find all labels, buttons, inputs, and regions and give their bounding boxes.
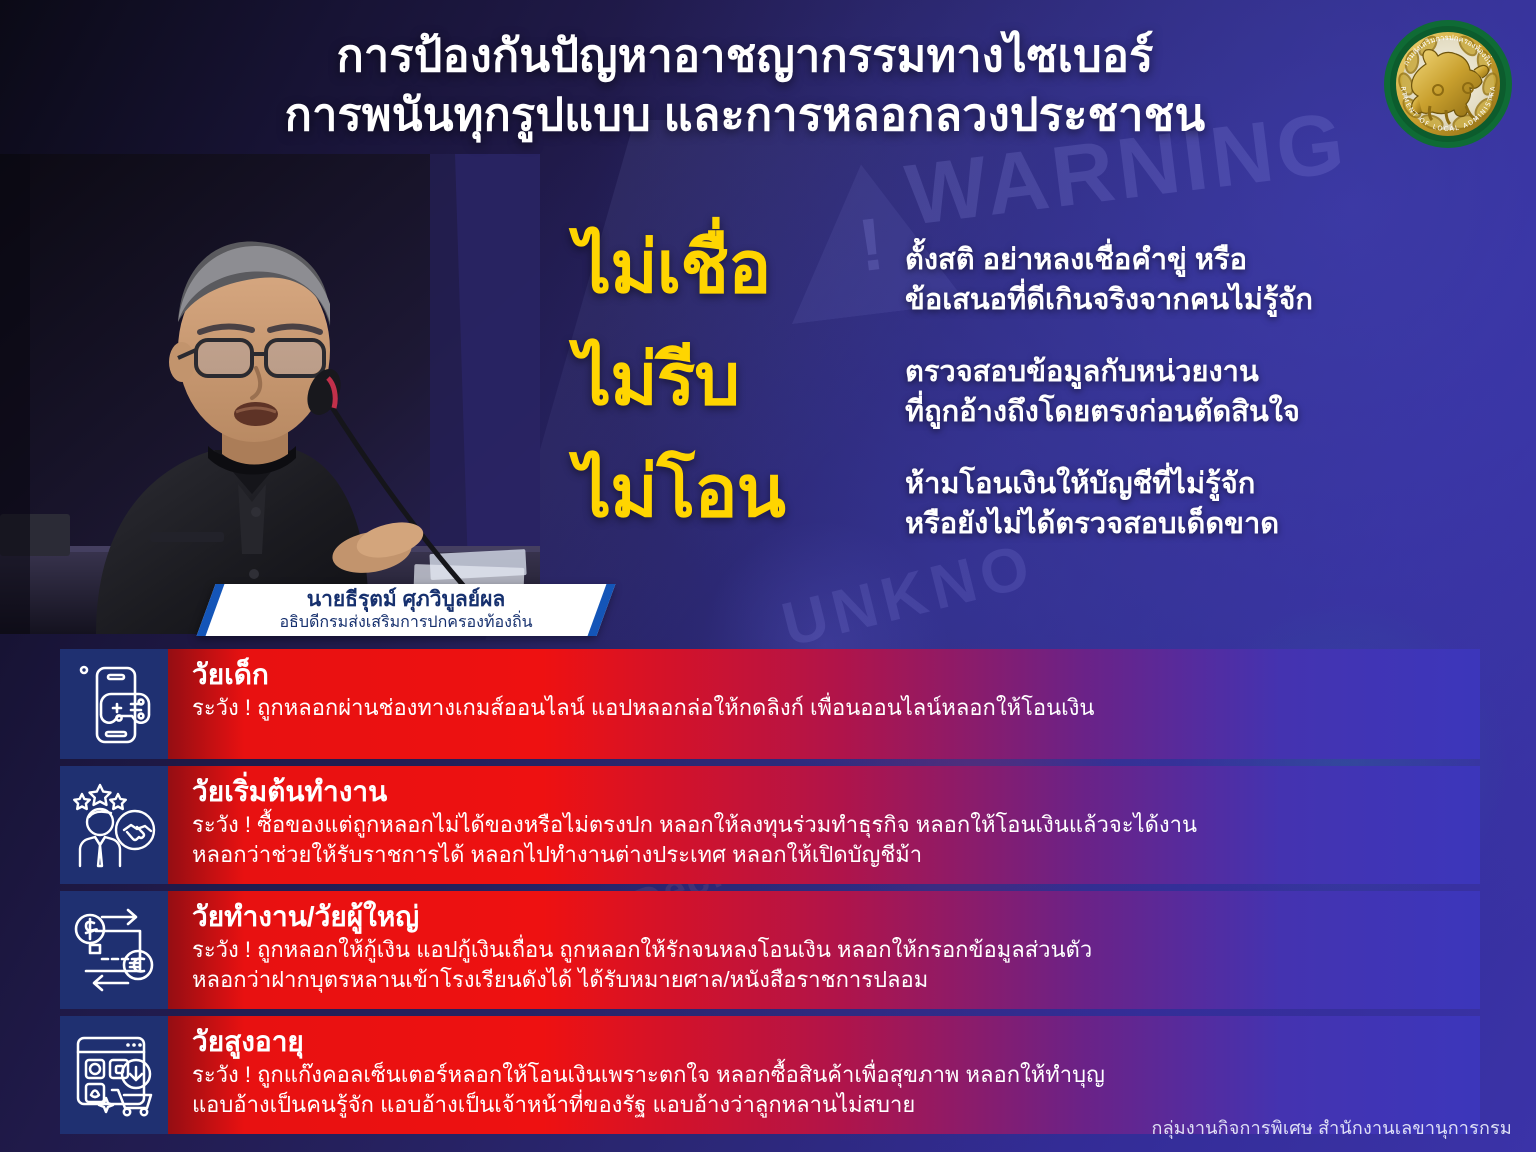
infographic-poster: WARNING UNKNO Decline Accept — [0, 0, 1536, 1152]
slogan-row: ไม่โอน ห้ามโอนเงินให้บัญชีที่ไม่รู้จัก ห… — [575, 446, 1475, 544]
page-title: การป้องกันปัญหาอาชญากรรมทางไซเบอร์ การพน… — [140, 26, 1350, 145]
age-group-line-2: หลอกว่าช่วยให้รับราชการได้ หลอกไปทำงานต่… — [192, 840, 1464, 869]
slogan-desc-line-1: ห้ามโอนเงินให้บัญชีที่ไม่รู้จัก — [905, 464, 1475, 504]
slogan-desc-line-2: ข้อเสนอที่ดีเกินจริงจากคนไม่รู้จัก — [905, 280, 1475, 320]
unknown-watermark-text: UNKNO — [775, 530, 1042, 661]
slogan-desc-line-1: ตรวจสอบข้อมูลกับหน่วยงาน — [905, 352, 1475, 392]
online-shopping-cart-icon — [60, 1016, 168, 1134]
banner-text: นายธีรุตม์ ศุภวิบูลย์ผล อธิบดีกรมส่งเสริ… — [206, 584, 606, 636]
title-line-2: การพนันทุกรูปแบบ และการหลอกลวงประชาชน — [140, 85, 1350, 144]
slogan-row: ไม่รีบ ตรวจสอบข้อมูลกับหน่วยงาน ที่ถูกอ้… — [575, 334, 1475, 432]
row-text: วัยเริ่มต้นทำงาน ระวัง ! ซื้อของแต่ถูกหล… — [168, 766, 1480, 884]
age-group-heading: วัยเริ่มต้นทำงาน — [192, 775, 1464, 809]
age-group-line-1: ระวัง ! ถูกหลอกผ่านช่องทางเกมส์ออนไลน์ แ… — [192, 693, 1464, 722]
slogan-desc-line-2: ที่ถูกอ้างถึงโดยตรงก่อนตัดสินใจ — [905, 392, 1475, 432]
smartphone-gamepad-icon — [60, 649, 168, 759]
slogan-description: ตั้งสติ อย่าหลงเชื่อคำขู่ หรือ ข้อเสนอที… — [905, 222, 1475, 320]
row-text: วัยสูงอายุ ระวัง ! ถูกแก๊งคอลเซ็นเตอร์หล… — [168, 1016, 1480, 1134]
age-group-line-1: ระวัง ! ถูกหลอกให้กู้เงิน แอปกู้เงินเถื่… — [192, 935, 1464, 964]
slogan-desc-line-1: ตั้งสติ อย่าหลงเชื่อคำขู่ หรือ — [905, 240, 1475, 280]
money-transfer-card-icon — [60, 891, 168, 1009]
age-group-heading: วัยทำงาน/วัยผู้ใหญ่ — [192, 900, 1464, 934]
age-group-heading: วัยสูงอายุ — [192, 1025, 1464, 1059]
businessman-handshake-stars-icon — [60, 766, 168, 884]
slogan-desc-line-2: หรือยังไม่ได้ตรวจสอบเด็ดขาด — [905, 504, 1475, 544]
age-group-line-2: หลอกว่าฝากบุตรหลานเข้าโรงเรียนดังได้ ได้… — [192, 965, 1464, 994]
row-text: วัยเด็ก ระวัง ! ถูกหลอกผ่านช่องทางเกมส์อ… — [168, 649, 1480, 759]
age-group-row-child: วัยเด็ก ระวัง ! ถูกหลอกผ่านช่องทางเกมส์อ… — [60, 649, 1480, 759]
speaker-illustration — [0, 154, 540, 634]
age-group-line-2: แอบอ้างเป็นคนรู้จัก แอบอ้างเป็นเจ้าหน้าท… — [192, 1090, 1464, 1119]
dola-official-seal-icon: กรมส่งเสริมการปกครองท้องถิ่น DEPARTMENT … — [1382, 18, 1514, 150]
speaker-name-banner: นายธีรุตม์ ศุภวิบูลย์ผล อธิบดีกรมส่งเสริ… — [206, 584, 606, 636]
slogan-row: ไม่เชื่อ ตั้งสติ อย่าหลงเชื่อคำขู่ หรือ … — [575, 222, 1475, 320]
speaker-role: อธิบดีกรมส่งเสริมการปกครองท้องถิ่น — [279, 613, 532, 632]
slogan-keyword: ไม่รีบ — [575, 334, 905, 426]
age-group-row-adult: วัยทำงาน/วัยผู้ใหญ่ ระวัง ! ถูกหลอกให้กู… — [60, 891, 1480, 1009]
slogan-description: ตรวจสอบข้อมูลกับหน่วยงาน ที่ถูกอ้างถึงโด… — [905, 334, 1475, 432]
slogan-keyword: ไม่เชื่อ — [575, 222, 905, 314]
age-group-heading: วัยเด็ก — [192, 658, 1464, 692]
speaker-name: นายธีรุตม์ ศุภวิบูลย์ผล — [307, 588, 506, 611]
row-text: วัยทำงาน/วัยผู้ใหญ่ ระวัง ! ถูกหลอกให้กู… — [168, 891, 1480, 1009]
age-group-row-elderly: วัยสูงอายุ ระวัง ! ถูกแก๊งคอลเซ็นเตอร์หล… — [60, 1016, 1480, 1134]
age-group-line-1: ระวัง ! ถูกแก๊งคอลเซ็นเตอร์หลอกให้โอนเงิ… — [192, 1060, 1464, 1089]
title-line-1: การป้องกันปัญหาอาชญากรรมทางไซเบอร์ — [140, 26, 1350, 85]
speaker-photo — [0, 154, 540, 634]
age-group-row-early-career: วัยเริ่มต้นทำงาน ระวัง ! ซื้อของแต่ถูกหล… — [60, 766, 1480, 884]
age-group-line-1: ระวัง ! ซื้อของแต่ถูกหลอกไม่ได้ของหรือไม… — [192, 810, 1464, 839]
slogan-keyword: ไม่โอน — [575, 446, 905, 538]
slogan-block: ไม่เชื่อ ตั้งสติ อย่าหลงเชื่อคำขู่ หรือ … — [575, 222, 1475, 544]
slogan-description: ห้ามโอนเงินให้บัญชีที่ไม่รู้จัก หรือยังไ… — [905, 446, 1475, 544]
age-group-list: วัยเด็ก ระวัง ! ถูกหลอกผ่านช่องทางเกมส์อ… — [60, 649, 1480, 1134]
